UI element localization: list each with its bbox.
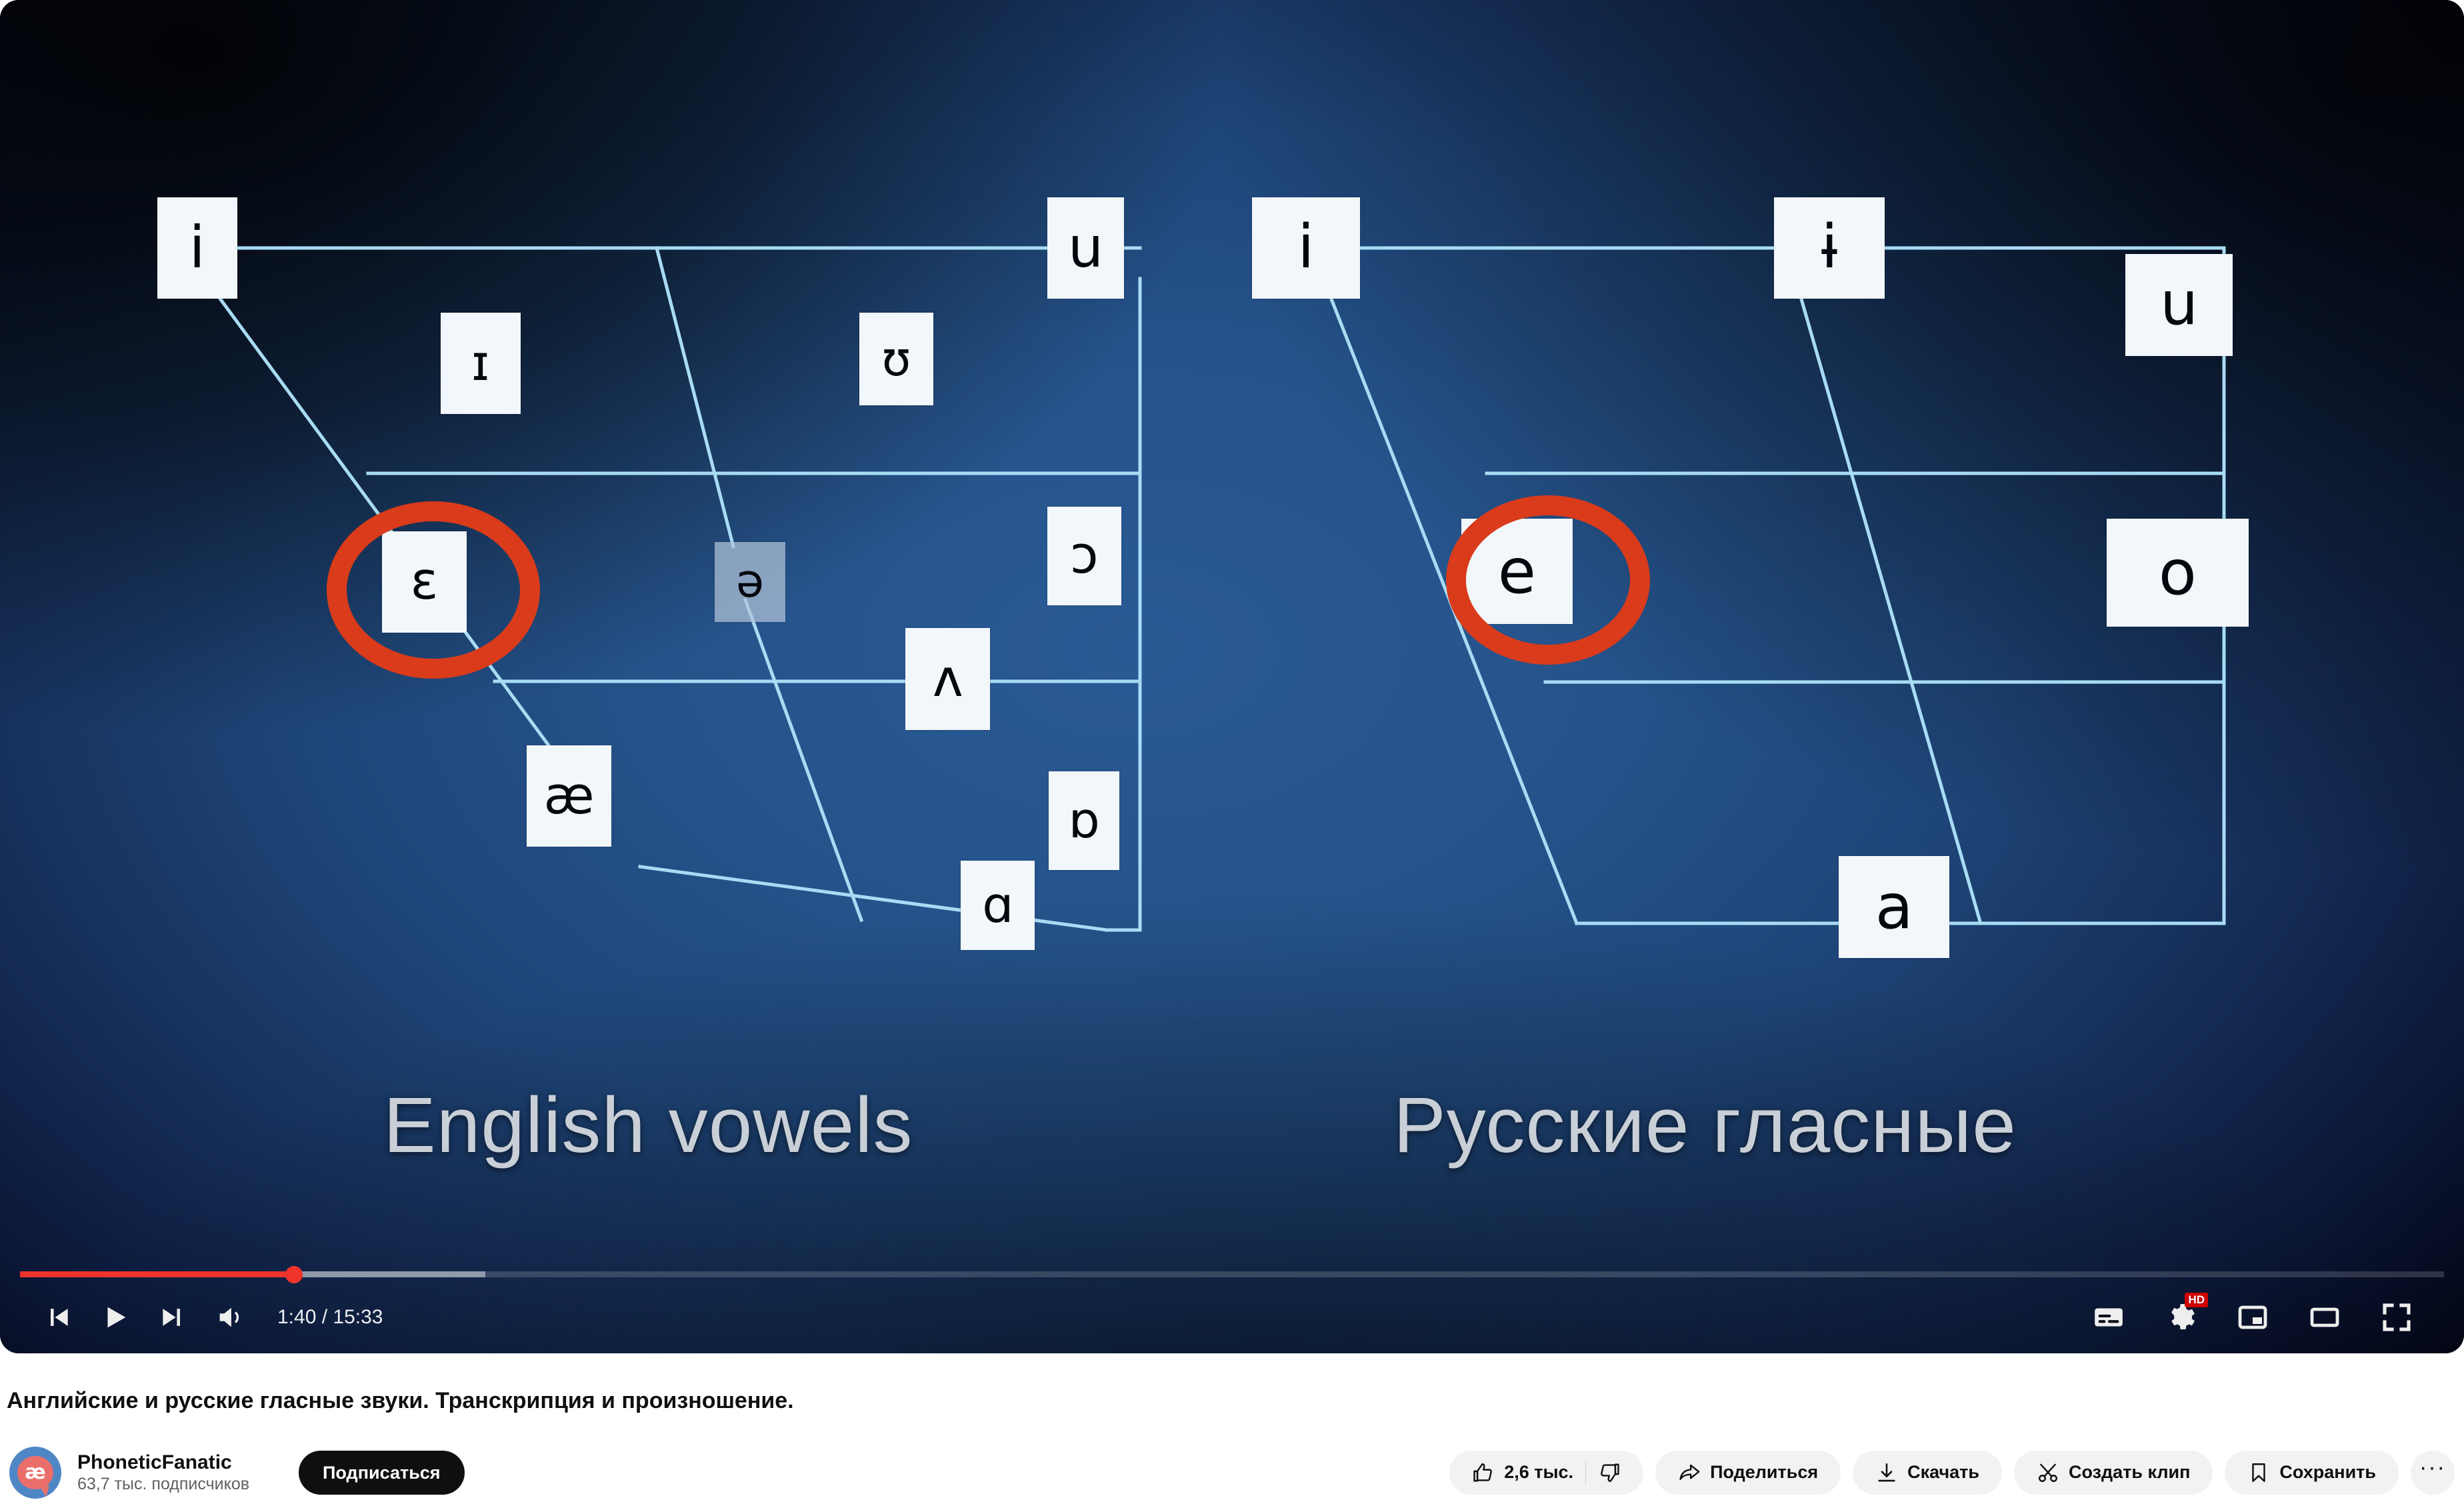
russian-vowel-tile-0: i <box>1252 197 1360 299</box>
save-label: Сохранить <box>2279 1462 2376 1483</box>
like-dislike-group[interactable]: 2,6 тыс. <box>1449 1451 1643 1495</box>
caption-english-vowels: English vowels <box>383 1080 913 1171</box>
video-vignette <box>0 0 2464 1353</box>
hd-badge: HD <box>2185 1293 2208 1307</box>
video-title: Английские и русские гласные звуки. Тран… <box>7 1388 794 1414</box>
download-icon <box>1875 1461 1898 1484</box>
vowel-charts-svg <box>0 0 2464 1353</box>
english-vowel-tile-4: ə <box>715 542 785 622</box>
english-vowel-tile-9: ɔ <box>1047 507 1121 605</box>
english-vowel-tile-2: ɛ <box>382 531 467 633</box>
download-button[interactable]: Скачать <box>1853 1451 2002 1495</box>
thumbs-down-icon[interactable] <box>1598 1461 1621 1484</box>
bookmark-icon <box>2247 1461 2270 1484</box>
more-button[interactable]: ··· <box>2411 1451 2455 1495</box>
russian-vowel-tile-2: u <box>2125 254 2233 355</box>
play-button[interactable] <box>87 1289 144 1346</box>
subscribe-button[interactable]: Подписаться <box>299 1451 465 1495</box>
video-player[interactable]: iɪɛæəʌɑʊuɔɒ iɨueoa English vowels Русски… <box>0 0 2464 1353</box>
channel-text: PhoneticFanatic 63,7 тыс. подписчиков <box>77 1451 249 1494</box>
settings-button[interactable]: HD <box>2152 1289 2209 1346</box>
english-vowel-tile-7: ʊ <box>859 313 933 405</box>
theater-button[interactable] <box>2296 1289 2353 1346</box>
progress-track[interactable] <box>20 1271 2444 1277</box>
russian-vowel-tile-3: e <box>1461 519 1572 623</box>
clip-label: Создать клип <box>2069 1462 2190 1483</box>
progress-bar[interactable] <box>0 1267 2464 1281</box>
player-controls: 1:40 / 15:33 HD <box>0 1281 2464 1353</box>
english-vowel-tile-8: u <box>1047 197 1125 299</box>
english-vowel-tile-10: ɒ <box>1049 771 1119 870</box>
channel-block[interactable]: æ PhoneticFanatic 63,7 тыс. подписчиков … <box>0 1447 465 1499</box>
thumbs-up-icon[interactable] <box>1472 1461 1495 1484</box>
russian-vowel-tile-5: a <box>1839 856 1949 957</box>
fullscreen-button[interactable] <box>2368 1289 2425 1346</box>
download-label: Скачать <box>1907 1462 1979 1483</box>
avatar-glyph: æ <box>25 1463 45 1483</box>
speech-bubble-icon: æ <box>17 1456 53 1489</box>
video-meta-row: æ PhoneticFanatic 63,7 тыс. подписчиков … <box>0 1437 2464 1508</box>
divider <box>1585 1460 1586 1485</box>
avatar[interactable]: æ <box>9 1447 61 1499</box>
channel-name[interactable]: PhoneticFanatic <box>77 1451 249 1473</box>
ellipsis-icon: ··· <box>2419 1455 2446 1481</box>
video-canvas[interactable]: iɪɛæəʌɑʊuɔɒ iɨueoa English vowels Русски… <box>0 0 2464 1353</box>
share-label: Поделиться <box>1710 1462 1818 1483</box>
english-vowel-tile-1: ɪ <box>441 313 521 414</box>
russian-vowel-tile-4: o <box>2107 519 2249 627</box>
english-vowel-tile-3: æ <box>527 745 611 847</box>
next-button[interactable] <box>144 1289 201 1346</box>
player-controls-right: HD <box>2080 1289 2435 1346</box>
like-count: 2,6 тыс. <box>1504 1462 1573 1483</box>
scissors-icon <box>2037 1461 2059 1484</box>
time-display: 1:40 / 15:33 <box>277 1306 383 1329</box>
share-button[interactable]: Поделиться <box>1655 1451 1841 1495</box>
save-button[interactable]: Сохранить <box>2225 1451 2399 1495</box>
volume-button[interactable] <box>201 1289 259 1346</box>
caption-russian-vowels: Русские гласные <box>1393 1080 2017 1171</box>
english-vowel-tile-0: i <box>157 197 237 299</box>
subscriber-count: 63,7 тыс. подписчиков <box>77 1475 249 1494</box>
clip-button[interactable]: Создать клип <box>2014 1451 2213 1495</box>
share-icon <box>1678 1461 1701 1484</box>
previous-button[interactable] <box>29 1289 87 1346</box>
subtitles-button[interactable] <box>2080 1289 2137 1346</box>
highlight-circles-svg <box>0 0 2464 1353</box>
miniplayer-button[interactable] <box>2224 1289 2281 1346</box>
english-vowel-tile-6: ɑ <box>961 861 1035 950</box>
action-buttons-row: 2,6 тыс. Поделиться <box>1449 1451 2464 1495</box>
progress-played <box>20 1271 294 1277</box>
russian-vowel-tile-1: ɨ <box>1774 197 1885 299</box>
english-vowel-tile-5: ʌ <box>905 628 990 729</box>
